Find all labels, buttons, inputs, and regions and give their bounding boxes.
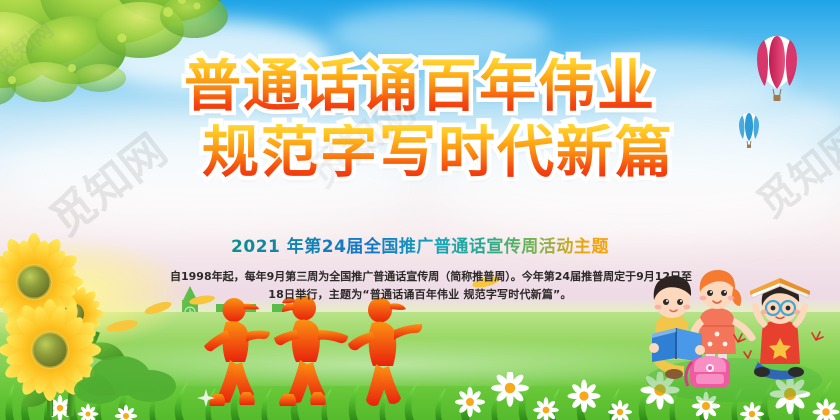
cloud-decoration bbox=[330, 6, 550, 60]
headline-line-1: 普通话诵百年伟业 普通话诵百年伟业 bbox=[184, 58, 656, 115]
body-paragraph-line-1: 自1998年起，每年9月第三周为全国推广普通话宣传周（简称推普周）。今年第24届… bbox=[170, 268, 670, 286]
body-paragraph-line-2: 18日举行，主题为“普通话诵百年伟业 规范字写时代新篇”。 bbox=[170, 286, 670, 304]
poster-canvas: 普通话诵百年伟业 普通话诵百年伟业 规范字写时代新篇 规范字写时代新篇 2021… bbox=[0, 0, 840, 420]
body-paragraph: 自1998年起，每年9月第三周为全国推广普通话宣传周（简称推普周）。今年第24届… bbox=[170, 268, 670, 304]
headline-line-1-text: 普通话诵百年伟业 bbox=[184, 58, 656, 115]
headline-line-2: 规范字写时代新篇 规范字写时代新篇 bbox=[202, 124, 674, 181]
headline-block: 普通话诵百年伟业 普通话诵百年伟业 规范字写时代新篇 规范字写时代新篇 bbox=[0, 58, 840, 181]
subtitle-text: 2021 年第24届全国推广普通话宣传周活动主题 bbox=[0, 232, 840, 257]
headline-line-2-text: 规范字写时代新篇 bbox=[202, 124, 674, 181]
running-children-silhouettes bbox=[196, 290, 426, 408]
